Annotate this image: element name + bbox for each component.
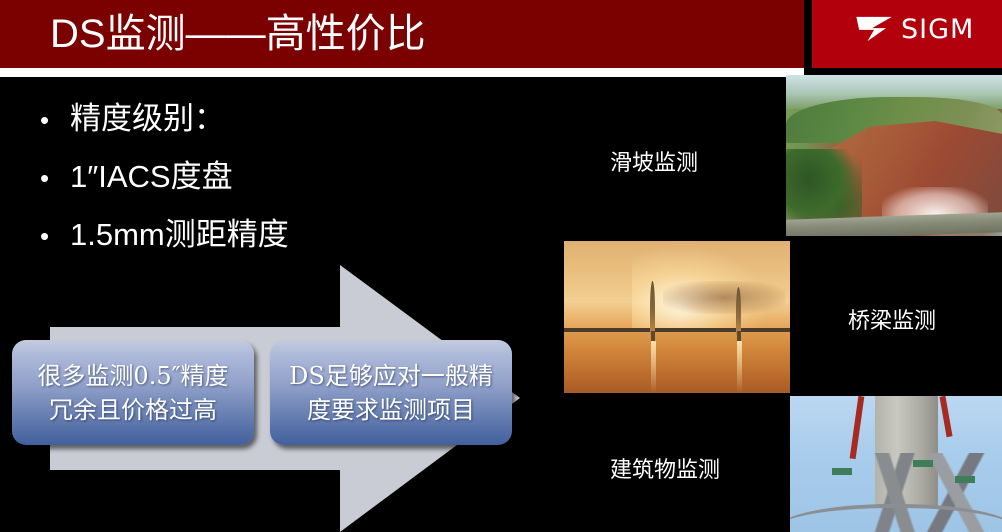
building-tarp: [832, 468, 852, 475]
bridge-pier: [737, 331, 741, 342]
bridge-pylon: [650, 281, 655, 336]
bridge-photo: [564, 241, 790, 393]
callout-box-solution: DS足够应对一般精 度要求监测项目: [270, 340, 512, 445]
bridge-water: [564, 331, 790, 393]
slide-canvas: DS监测——高性价比 SIGM • 精度级别： • 1″IACS度盘 • 1.5…: [0, 0, 1002, 532]
bridge-deck: [564, 328, 790, 332]
logo-text: SIGM: [901, 16, 974, 43]
page-title: DS监测——高性价比: [50, 3, 426, 65]
bullet-label: 精度级别：: [70, 98, 225, 140]
building-photo: [790, 396, 1002, 532]
title-underline: [0, 68, 804, 77]
bullet-marker-icon: •: [40, 216, 70, 256]
bullet-marker-icon: •: [40, 158, 70, 198]
callout-line: 度要求监测项目: [289, 393, 493, 427]
bullet-label: 1.5mm测距精度: [70, 214, 289, 256]
building-crane: [849, 396, 864, 459]
brand-logo: SIGM: [855, 12, 974, 46]
building-crane: [939, 396, 952, 437]
landslide-trees: [786, 149, 862, 225]
bullet-list: • 精度级别： • 1″IACS度盘 • 1.5mm测距精度: [40, 98, 510, 272]
bridge-label: 桥梁监测: [848, 308, 936, 334]
callout-line: 很多监测0.5″精度: [37, 359, 228, 393]
landslide-label: 滑坡监测: [610, 150, 698, 176]
bullet-marker-icon: •: [40, 100, 70, 140]
callout-line: 冗余且价格过高: [37, 393, 228, 427]
bridge-reflection: [651, 341, 656, 393]
list-item: • 精度级别：: [40, 98, 510, 140]
bridge-pier: [651, 331, 655, 342]
callout-box-problem: 很多监测0.5″精度 冗余且价格过高: [12, 340, 254, 445]
callout-group: 很多监测0.5″精度 冗余且价格过高 DS足够应对一般精 度要求监测项目: [12, 340, 522, 445]
bridge-reflection: [737, 341, 742, 393]
list-item: • 1.5mm测距精度: [40, 214, 510, 256]
building-tarp: [913, 460, 933, 467]
landslide-photo: [786, 75, 1002, 236]
building-tarp: [955, 476, 975, 483]
callout-text: 很多监测0.5″精度 冗余且价格过高: [27, 359, 238, 427]
list-item: • 1″IACS度盘: [40, 156, 510, 198]
bridge-cloud: [663, 281, 785, 314]
callout-line: DS足够应对一般精: [289, 359, 493, 393]
bridge-pylon: [736, 287, 741, 336]
bullet-label: 1″IACS度盘: [70, 156, 233, 198]
building-label: 建筑物监测: [610, 457, 720, 483]
callout-text: DS足够应对一般精 度要求监测项目: [279, 359, 503, 427]
chevron-arrow-icon: [855, 16, 893, 42]
